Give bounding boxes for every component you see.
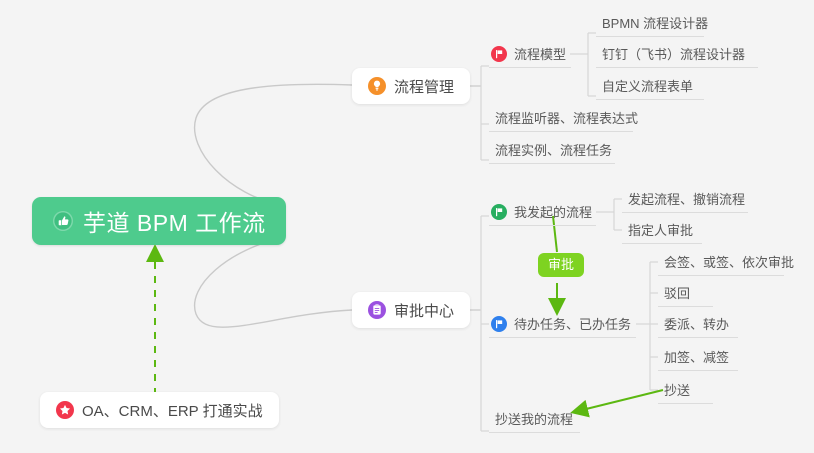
node-bpmn-designer[interactable]: BPMN 流程设计器 xyxy=(596,9,704,37)
annotation-integration-callout[interactable]: OA、CRM、ERP 打通实战 xyxy=(40,392,279,428)
node-delegate-transfer[interactable]: 委派、转办 xyxy=(658,310,738,338)
clipboard-icon xyxy=(368,301,386,319)
root-node[interactable]: 芋道 BPM 工作流 xyxy=(32,197,286,245)
root-label: 芋道 BPM 工作流 xyxy=(83,204,266,238)
node-label: 钉钉（飞书）流程设计器 xyxy=(602,44,745,63)
node-assignee-approval[interactable]: 指定人审批 xyxy=(622,216,702,244)
node-cc[interactable]: 抄送 xyxy=(658,376,713,404)
node-process-model[interactable]: 流程模型 xyxy=(489,40,571,68)
branch-process-management[interactable]: 流程管理 xyxy=(352,68,470,104)
flag-icon xyxy=(491,316,507,332)
node-todo-done-tasks[interactable]: 待办任务、已办任务 xyxy=(489,310,636,338)
node-dingtalk-feishu-designer[interactable]: 钉钉（飞书）流程设计器 xyxy=(596,40,758,68)
flag-icon xyxy=(491,204,507,220)
arrow-cc-to-my-process xyxy=(578,390,663,411)
node-label: 待办任务、已办任务 xyxy=(514,314,631,333)
node-cc-to-me-process[interactable]: 抄送我的流程 xyxy=(489,405,580,433)
lightbulb-icon xyxy=(368,77,386,95)
node-label: 驳回 xyxy=(664,283,690,302)
node-label: 指定人审批 xyxy=(628,220,693,239)
node-start-cancel-process[interactable]: 发起流程、撤销流程 xyxy=(622,185,748,213)
node-label: 会签、或签、依次审批 xyxy=(664,252,794,271)
node-label: 流程监听器、流程表达式 xyxy=(495,108,638,127)
node-label: 抄送我的流程 xyxy=(495,409,573,428)
link-root-to-approval-center xyxy=(195,238,352,327)
annotation-label: 审批 xyxy=(548,257,574,272)
node-my-initiated-process[interactable]: 我发起的流程 xyxy=(489,198,596,226)
branch-label: 审批中心 xyxy=(394,300,454,321)
node-label: 流程实例、流程任务 xyxy=(495,140,612,159)
node-add-remove-sign[interactable]: 加签、减签 xyxy=(658,343,738,371)
node-process-instance-task[interactable]: 流程实例、流程任务 xyxy=(489,136,615,164)
node-label: 委派、转办 xyxy=(664,314,729,333)
node-label: 发起流程、撤销流程 xyxy=(628,189,745,208)
flag-icon xyxy=(491,46,507,62)
annotation-label: OA、CRM、ERP 打通实战 xyxy=(82,400,263,421)
mindmap-canvas: 芋道 BPM 工作流 流程管理 流程模型 BPMN 流程设计器 钉钉（飞书）流程… xyxy=(0,0,814,453)
node-process-listener-expression[interactable]: 流程监听器、流程表达式 xyxy=(489,104,633,132)
link-root-to-process-management xyxy=(195,84,352,205)
branch-approval-center[interactable]: 审批中心 xyxy=(352,292,470,328)
node-reject[interactable]: 驳回 xyxy=(658,279,713,307)
thumbs-up-icon xyxy=(52,210,74,232)
node-custom-process-form[interactable]: 自定义流程表单 xyxy=(596,72,704,100)
node-label: 自定义流程表单 xyxy=(602,76,693,95)
branch-label: 流程管理 xyxy=(394,76,454,97)
annotation-approval-badge: 审批 xyxy=(538,253,584,277)
node-label: 流程模型 xyxy=(514,44,566,63)
node-label: BPMN 流程设计器 xyxy=(602,13,708,32)
node-label: 抄送 xyxy=(664,380,690,399)
star-icon xyxy=(56,401,74,419)
node-label: 加签、减签 xyxy=(664,347,729,366)
node-label: 我发起的流程 xyxy=(514,202,592,221)
node-countersign-or-sequential[interactable]: 会签、或签、依次审批 xyxy=(658,248,784,276)
